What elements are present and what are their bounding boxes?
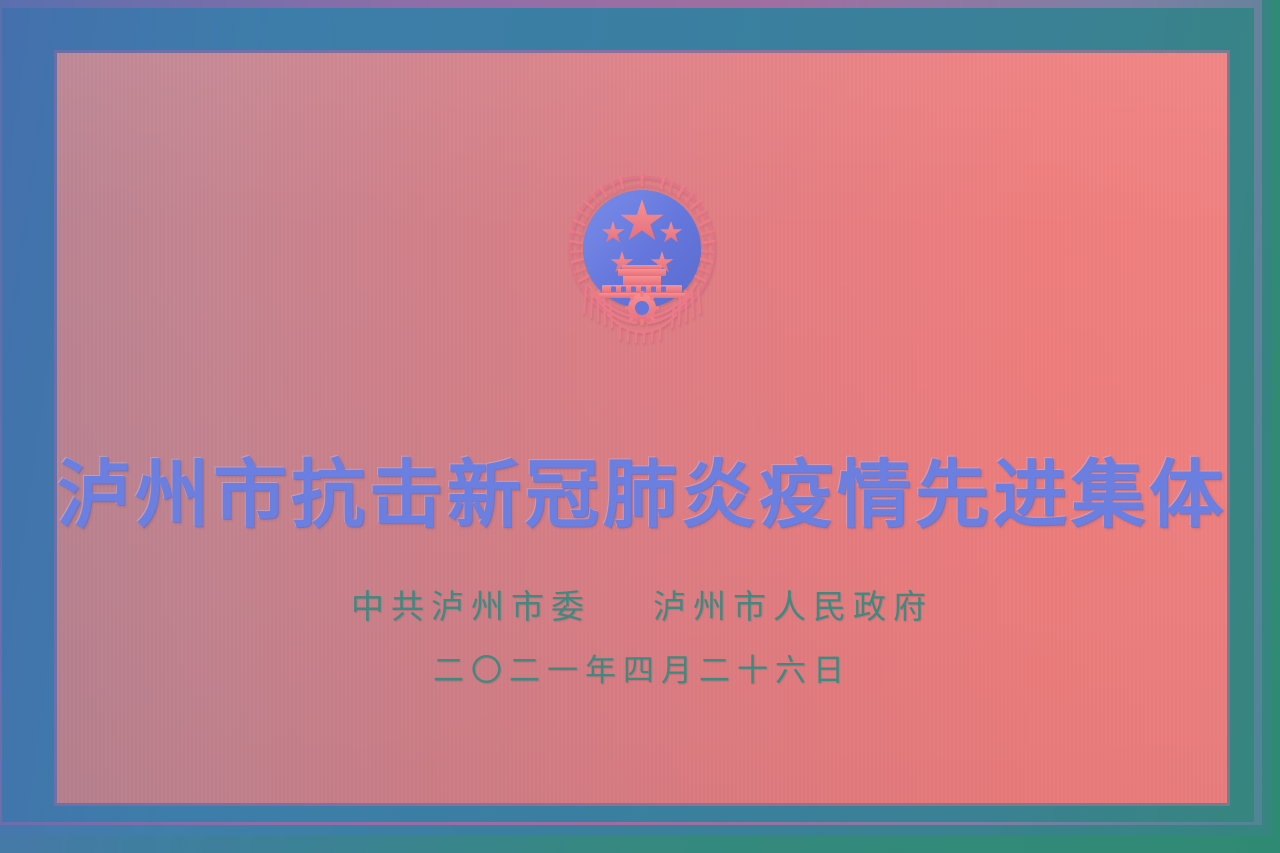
- signatory-party-committee: 中共泸州市委: [351, 585, 591, 629]
- plaque-face: 泸州市抗击新冠肺炎疫情先进集体 中共泸州市委 泸州市人民政府 二〇二一年四月二十…: [57, 53, 1227, 803]
- emblem-cogwheel: [625, 291, 659, 325]
- emblem-container: [57, 165, 1227, 345]
- award-plaque: 泸州市抗击新冠肺炎疫情先进集体 中共泸州市委 泸州市人民政府 二〇二一年四月二十…: [0, 0, 1280, 853]
- signatory-municipal-government: 泸州市人民政府: [653, 585, 933, 629]
- plaque-date: 二〇二一年四月二十六日: [57, 650, 1227, 692]
- signatory-row: 中共泸州市委 泸州市人民政府: [57, 585, 1227, 629]
- plaque-title: 泸州市抗击新冠肺炎疫情先进集体: [57, 450, 1227, 542]
- national-emblem-icon: [558, 165, 726, 345]
